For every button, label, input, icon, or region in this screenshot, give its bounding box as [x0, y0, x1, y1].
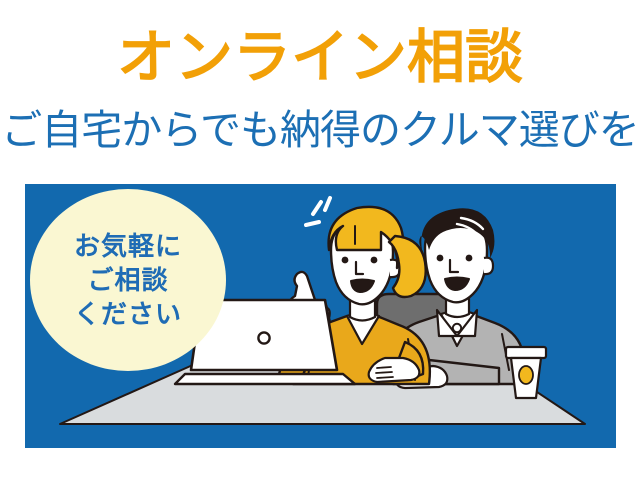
headline-block: オンライン相談 ご自宅からでも納得のクルマ選びを	[0, 0, 640, 182]
badge-line-2: ご相談	[87, 263, 168, 297]
online-consultation-banner: オンライン相談 ご自宅からでも納得のクルマ選びを	[0, 0, 640, 480]
page-subtitle: ご自宅からでも納得のクルマ選びを	[0, 106, 640, 154]
badge-line-1: お気軽に	[74, 229, 182, 263]
page-title: オンライン相談	[0, 27, 640, 89]
badge-line-3: ください	[74, 297, 182, 331]
illustration-panel: お気軽に ご相談 ください	[25, 184, 616, 448]
sparkle-icon	[306, 198, 330, 225]
status-badge: お気軽に ご相談 ください	[30, 189, 226, 371]
